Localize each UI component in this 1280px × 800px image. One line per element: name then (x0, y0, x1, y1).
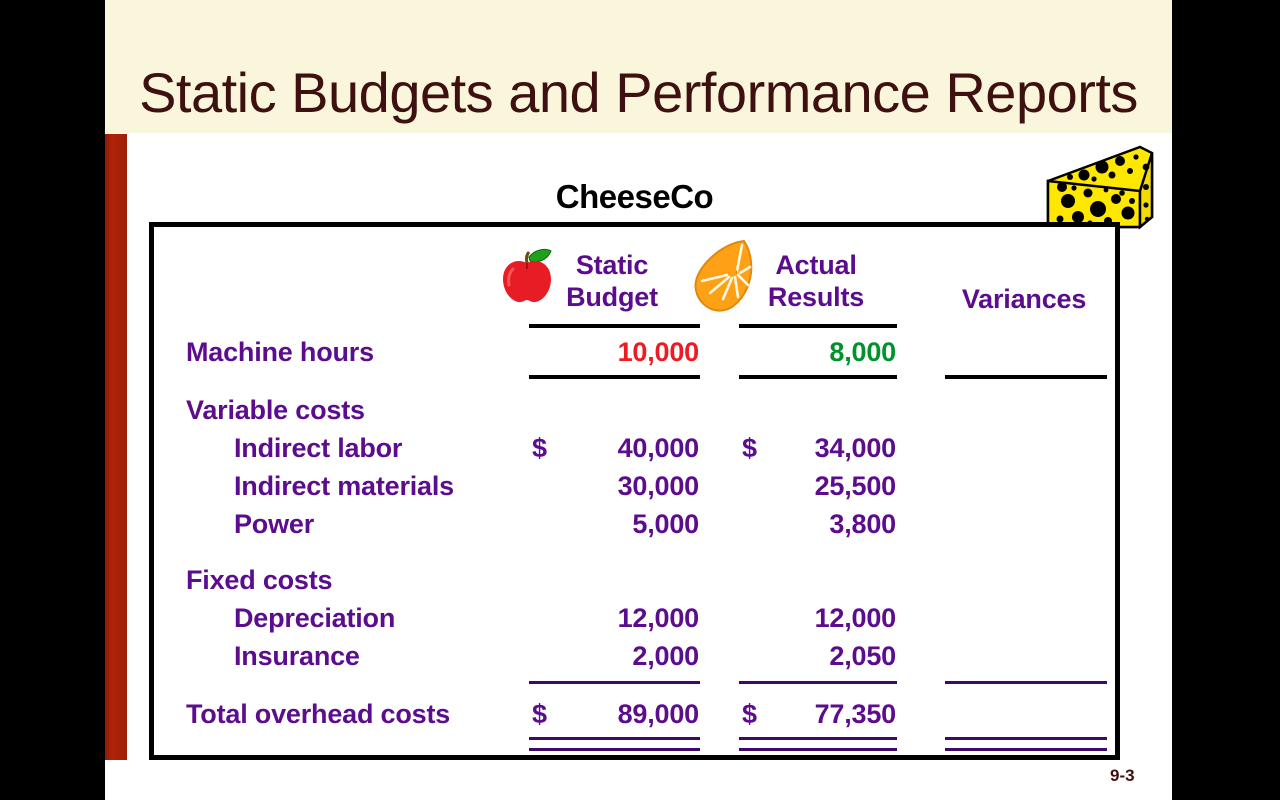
row-variance-value (940, 471, 1100, 509)
table-row: Indirect labor $ 40,000 $ 34,000 (154, 433, 1115, 471)
row-variance-value (940, 433, 1100, 471)
total-double-rule-actual (739, 737, 897, 751)
row-label: Indirect labor (234, 433, 402, 464)
table-row: Variable costs (154, 395, 1115, 433)
left-accent-bar (105, 134, 127, 760)
slide-root: Static Budgets and Performance Reports C… (0, 0, 1280, 800)
row-budget-value: 40,000 (524, 433, 699, 471)
subtotal-rule-variance (945, 681, 1107, 684)
company-name: CheeseCo (149, 178, 1120, 216)
table-row: Power 5,000 3,800 (154, 509, 1115, 547)
row-variance-value (940, 509, 1100, 547)
row-label: Power (234, 509, 314, 540)
row-budget-value: 10,000 (524, 337, 699, 375)
row-actual-value: 12,000 (734, 603, 896, 641)
row-label: Insurance (234, 641, 360, 672)
table-row: Depreciation 12,000 12,000 (154, 603, 1115, 641)
column-header-variances: Variances (938, 283, 1110, 315)
row-actual-value: 34,000 (734, 433, 896, 471)
row-budget-value: 2,000 (524, 641, 699, 679)
row-actual-value: 25,500 (734, 471, 896, 509)
row-label: Total overhead costs (186, 699, 450, 730)
row-budget-value: 89,000 (524, 699, 699, 737)
title-band: Static Budgets and Performance Reports (105, 0, 1172, 133)
row-actual-value: 3,800 (734, 509, 896, 547)
row-label: Indirect materials (234, 471, 454, 502)
row-variance-value (940, 699, 1100, 737)
actual-results-line1: Actual (732, 249, 900, 281)
table-row: Fixed costs (154, 565, 1115, 603)
row-variance-value (940, 603, 1100, 641)
header-rule-actual (739, 324, 897, 328)
table-row: Insurance 2,000 2,050 (154, 641, 1115, 679)
actual-results-line2: Results (732, 281, 900, 313)
row-variance-value (940, 337, 1100, 375)
header-rule-budget (529, 324, 700, 328)
row-budget-value: 5,000 (524, 509, 699, 547)
total-double-rule-budget (529, 737, 700, 751)
rule-budget (529, 375, 700, 379)
row-actual-value: 2,050 (734, 641, 896, 679)
subtotal-rule-actual (739, 681, 897, 684)
row-actual-value: 77,350 (734, 699, 896, 737)
row-label: Fixed costs (186, 565, 332, 596)
row-budget-value: 30,000 (524, 471, 699, 509)
column-header-actual-results: Actual Results (732, 249, 900, 313)
budget-performance-table: Static Budget (149, 222, 1120, 760)
table-row: Indirect materials 30,000 25,500 (154, 471, 1115, 509)
total-double-rule-variance (945, 737, 1107, 751)
row-label: Machine hours (186, 337, 374, 368)
table-row: Total overhead costs $ 89,000 $ 77,350 (154, 699, 1115, 737)
rule-actual (739, 375, 897, 379)
row-variance-value (940, 641, 1100, 679)
subtotal-rule-budget (529, 681, 700, 684)
table-row: Machine hours 10,000 8,000 (154, 337, 1115, 375)
row-label: Variable costs (186, 395, 365, 426)
row-label: Depreciation (234, 603, 395, 634)
static-budget-line1: Static (523, 249, 701, 281)
rule-variance (945, 375, 1107, 379)
row-actual-value: 8,000 (734, 337, 896, 375)
static-budget-line2: Budget (523, 281, 701, 313)
page-number: 9-3 (1110, 766, 1135, 786)
page-title: Static Budgets and Performance Reports (105, 0, 1172, 133)
row-budget-value: 12,000 (524, 603, 699, 641)
column-header-static-budget: Static Budget (523, 249, 701, 313)
